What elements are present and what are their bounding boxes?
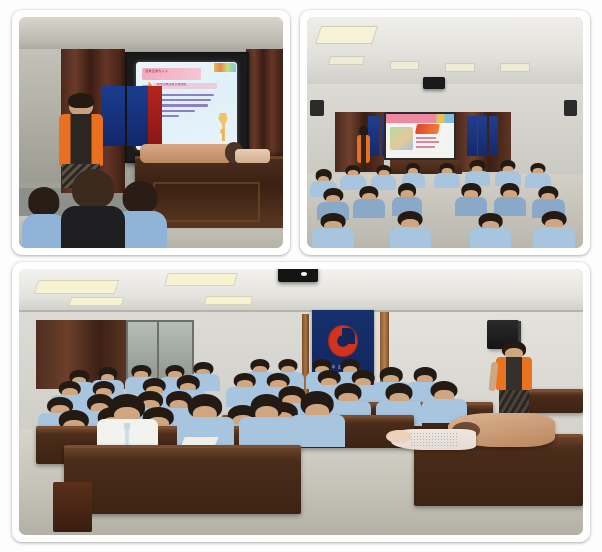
audience-member [250,394,283,450]
cpr-manikin-infant [391,429,476,450]
infant-onesie-pattern [410,432,457,446]
photo-top-left: 自救互救为人人 现场急救自救互救技能 [19,17,283,248]
slide-banner-text [415,124,440,134]
slide-header-bar [386,114,454,124]
company-circle-logo [328,325,358,357]
flag-blue-1 [101,86,125,146]
photo-frame-bottom[interactable]: 中 正 集 团 ZHONGZHENG GROUP [12,262,590,542]
ceiling-light-panel [204,296,253,305]
ceiling-projector [423,77,445,89]
instructor-legs [499,390,528,413]
flag-blue [478,116,487,155]
wall-speaker-left [310,100,324,116]
flag-blue-2 [127,86,148,146]
presenter-orange-vest [59,114,104,166]
slide-header: 自救互救为人人 [142,68,200,79]
audience-member [478,213,503,248]
slide-tab-strip [214,63,236,72]
flag-blue [467,116,477,155]
wall-panel [19,49,63,183]
ceiling-light-panel [315,26,378,44]
wall-speaker-right [564,100,578,116]
ceiling-light-panel [445,63,475,72]
audience-member [398,211,423,248]
audience-member [500,160,515,185]
flag-red [148,86,161,146]
presenter-orange-vest [357,135,371,162]
audience-member [321,213,346,248]
slide-header-text: 自救互救为人人 [142,68,200,73]
table-panel [153,182,260,222]
audience-member [61,179,124,248]
ceiling-light-panel [328,56,365,65]
chair [53,482,92,533]
ceiling-light-panel [33,280,119,294]
slide-subtitle: 现场急救自救互救技能 [154,83,217,89]
audience-member [470,160,485,185]
infant-manikin-head [386,430,411,443]
audience-member [359,186,378,218]
audience-member [301,391,334,447]
ceiling-projector [278,269,317,282]
slide-illustration [390,127,413,150]
cpr-manikin-adult [140,144,230,162]
presenter [357,126,371,163]
ceiling-light-panel [390,61,420,70]
ceiling-light-panel [500,63,530,72]
ceiling-light-panel [69,297,124,306]
audience-member [542,211,567,248]
audience-member [500,183,519,215]
audience-member [22,193,67,248]
audience-member [531,163,546,188]
photo-frame-top-right[interactable] [300,10,590,255]
slide-subtitle-text: 现场急救自救互救技能 [154,83,217,86]
presenter-hair [68,93,95,109]
cpr-manikin-infant [235,149,269,163]
photo-frame-top-left[interactable]: 自救互救为人人 现场急救自救互救技能 [12,10,290,255]
flag-blue [489,116,498,155]
audience-member [439,163,454,188]
projection-screen [384,112,456,161]
audience-member [431,381,458,424]
instructor-orange-vest [496,357,533,390]
photo-bottom: 中 正 集 团 ZHONGZHENG GROUP [19,269,583,535]
photo-top-right [307,17,583,248]
note-paper [181,437,218,445]
instructor [496,341,533,413]
key-icon [215,113,231,141]
ceiling-light-panel [164,273,237,286]
audience-member [462,183,481,215]
photo-collage: 自救互救为人人 现场急救自救互救技能 [0,0,602,552]
desk-front [64,445,301,515]
